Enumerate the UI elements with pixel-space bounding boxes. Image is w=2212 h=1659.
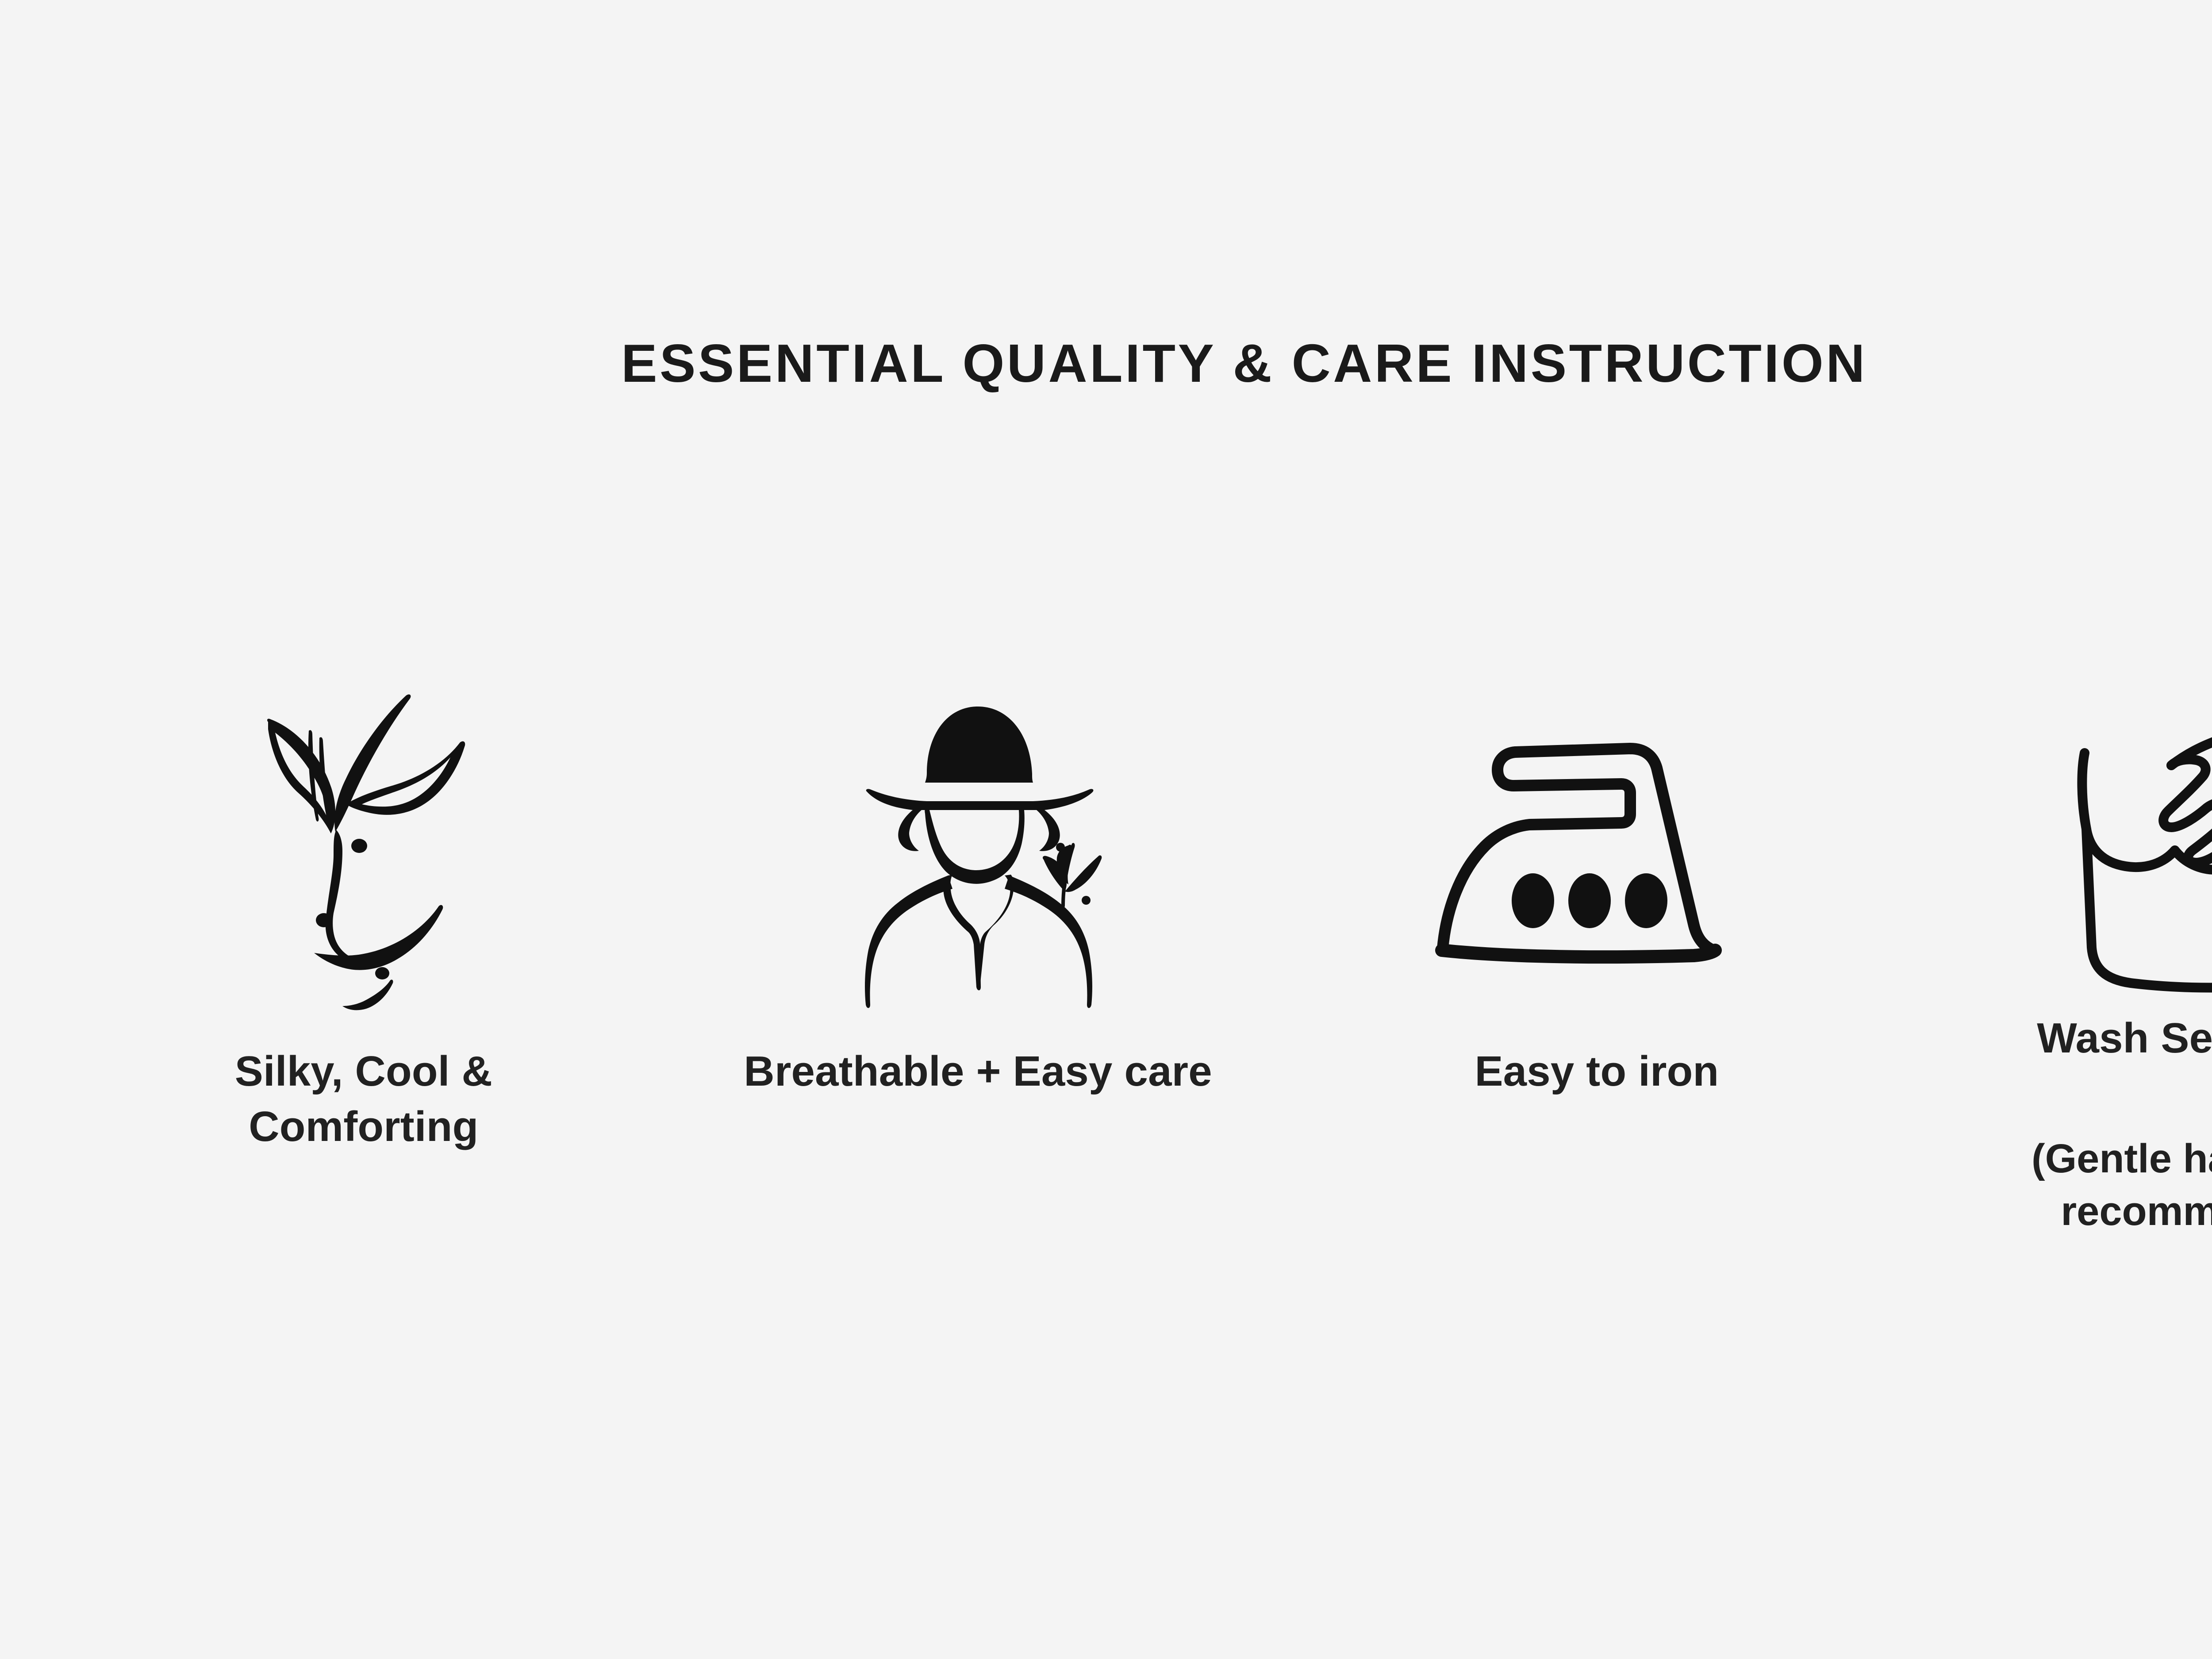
farmer-with-hat-icon — [779, 655, 1177, 1044]
handwash-basin-icon — [2008, 655, 2212, 1044]
feature-item-iron: Easy to iron — [1315, 655, 1879, 1099]
feature-item-wash: Wash Separately (Gentle handwash recomme… — [1925, 655, 2212, 1238]
feature-label: Silky, Cool & Comforting — [125, 1044, 603, 1155]
page-title: ESSENTIAL QUALITY & CARE INSTRUCTION — [0, 334, 2212, 393]
feature-note: (Gentle handwash recommended) — [1963, 1133, 2212, 1238]
care-instruction-page: ESSENTIAL QUALITY & CARE INSTRUCTION — [0, 0, 2212, 1659]
feature-label: Easy to iron — [1475, 1044, 1719, 1099]
feature-item-breathable: Breathable + Easy care — [696, 655, 1260, 1099]
feature-item-silky: Silky, Cool & Comforting — [82, 655, 645, 1155]
sprout-plant-icon — [165, 655, 563, 1044]
feature-label: Wash Separately — [2037, 1011, 2212, 1066]
feature-label: Breathable + Easy care — [744, 1044, 1212, 1099]
feature-row: Silky, Cool & Comforting — [0, 655, 2212, 1238]
clothes-iron-icon — [1398, 655, 1796, 1044]
